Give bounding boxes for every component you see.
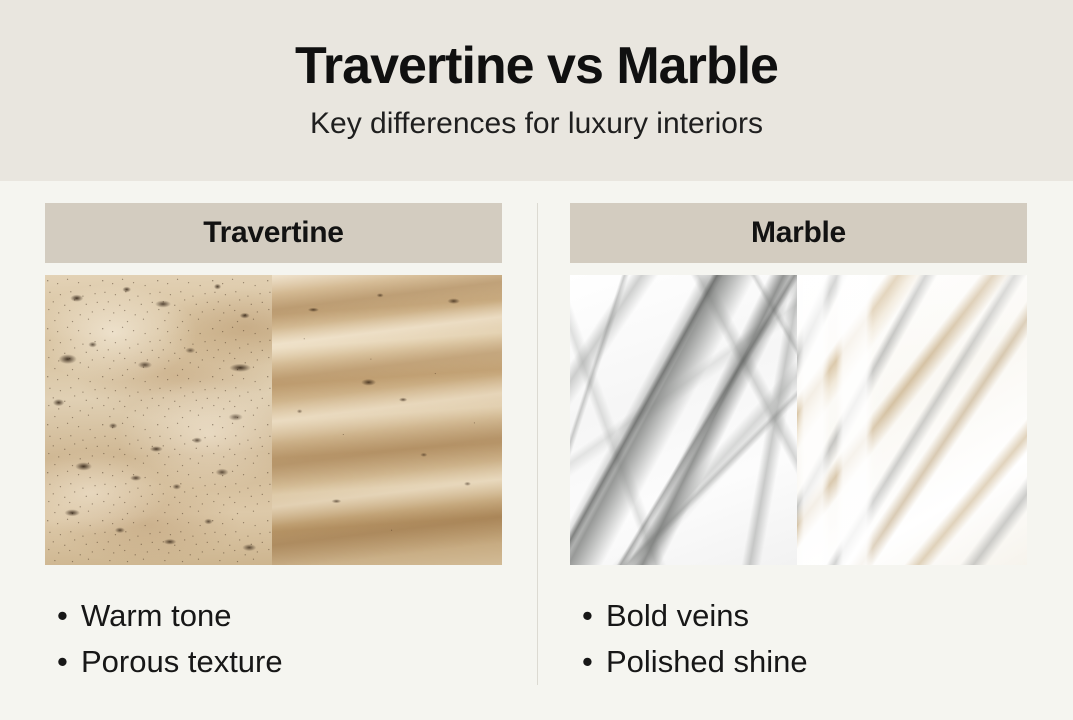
- column-marble: Marble • Bold veins • Polished shine: [570, 181, 1027, 685]
- infographic-page: Travertine vs Marble Key differences for…: [0, 0, 1073, 720]
- bullet-dot-icon: •: [57, 639, 81, 685]
- travertine-header-label: Travertine: [203, 216, 343, 250]
- bullet-label: Warm tone: [81, 593, 231, 639]
- marble-bullet-list: • Bold veins • Polished shine: [570, 593, 1027, 685]
- bullet-label: Porous texture: [81, 639, 283, 685]
- bullet-dot-icon: •: [582, 639, 606, 685]
- marble-grey-vein-swatch: [570, 275, 797, 565]
- page-header: Travertine vs Marble Key differences for…: [0, 0, 1073, 181]
- bullet-label: Polished shine: [606, 639, 808, 685]
- marble-header-band: Marble: [570, 203, 1027, 263]
- marble-gold-vein-swatch: [797, 275, 1027, 565]
- travertine-bullet-list: • Warm tone • Porous texture: [45, 593, 502, 685]
- travertine-header-band: Travertine: [45, 203, 502, 263]
- column-divider: [537, 203, 538, 685]
- list-item: • Bold veins: [582, 593, 1027, 639]
- list-item: • Porous texture: [57, 639, 502, 685]
- column-travertine: Travertine • Warm tone • Porous texture: [45, 181, 502, 685]
- travertine-swatch-pair: [45, 275, 502, 565]
- bullet-label: Bold veins: [606, 593, 749, 639]
- marble-header-label: Marble: [751, 216, 846, 250]
- travertine-porous-swatch: [45, 275, 272, 565]
- marble-swatch-pair: [570, 275, 1027, 565]
- comparison-columns: Travertine • Warm tone • Porous texture: [0, 181, 1073, 720]
- list-item: • Polished shine: [582, 639, 1027, 685]
- bullet-dot-icon: •: [582, 593, 606, 639]
- page-subtitle: Key differences for luxury interiors: [310, 107, 763, 142]
- list-item: • Warm tone: [57, 593, 502, 639]
- bullet-dot-icon: •: [57, 593, 81, 639]
- travertine-banded-swatch: [272, 275, 502, 565]
- page-title: Travertine vs Marble: [295, 39, 778, 94]
